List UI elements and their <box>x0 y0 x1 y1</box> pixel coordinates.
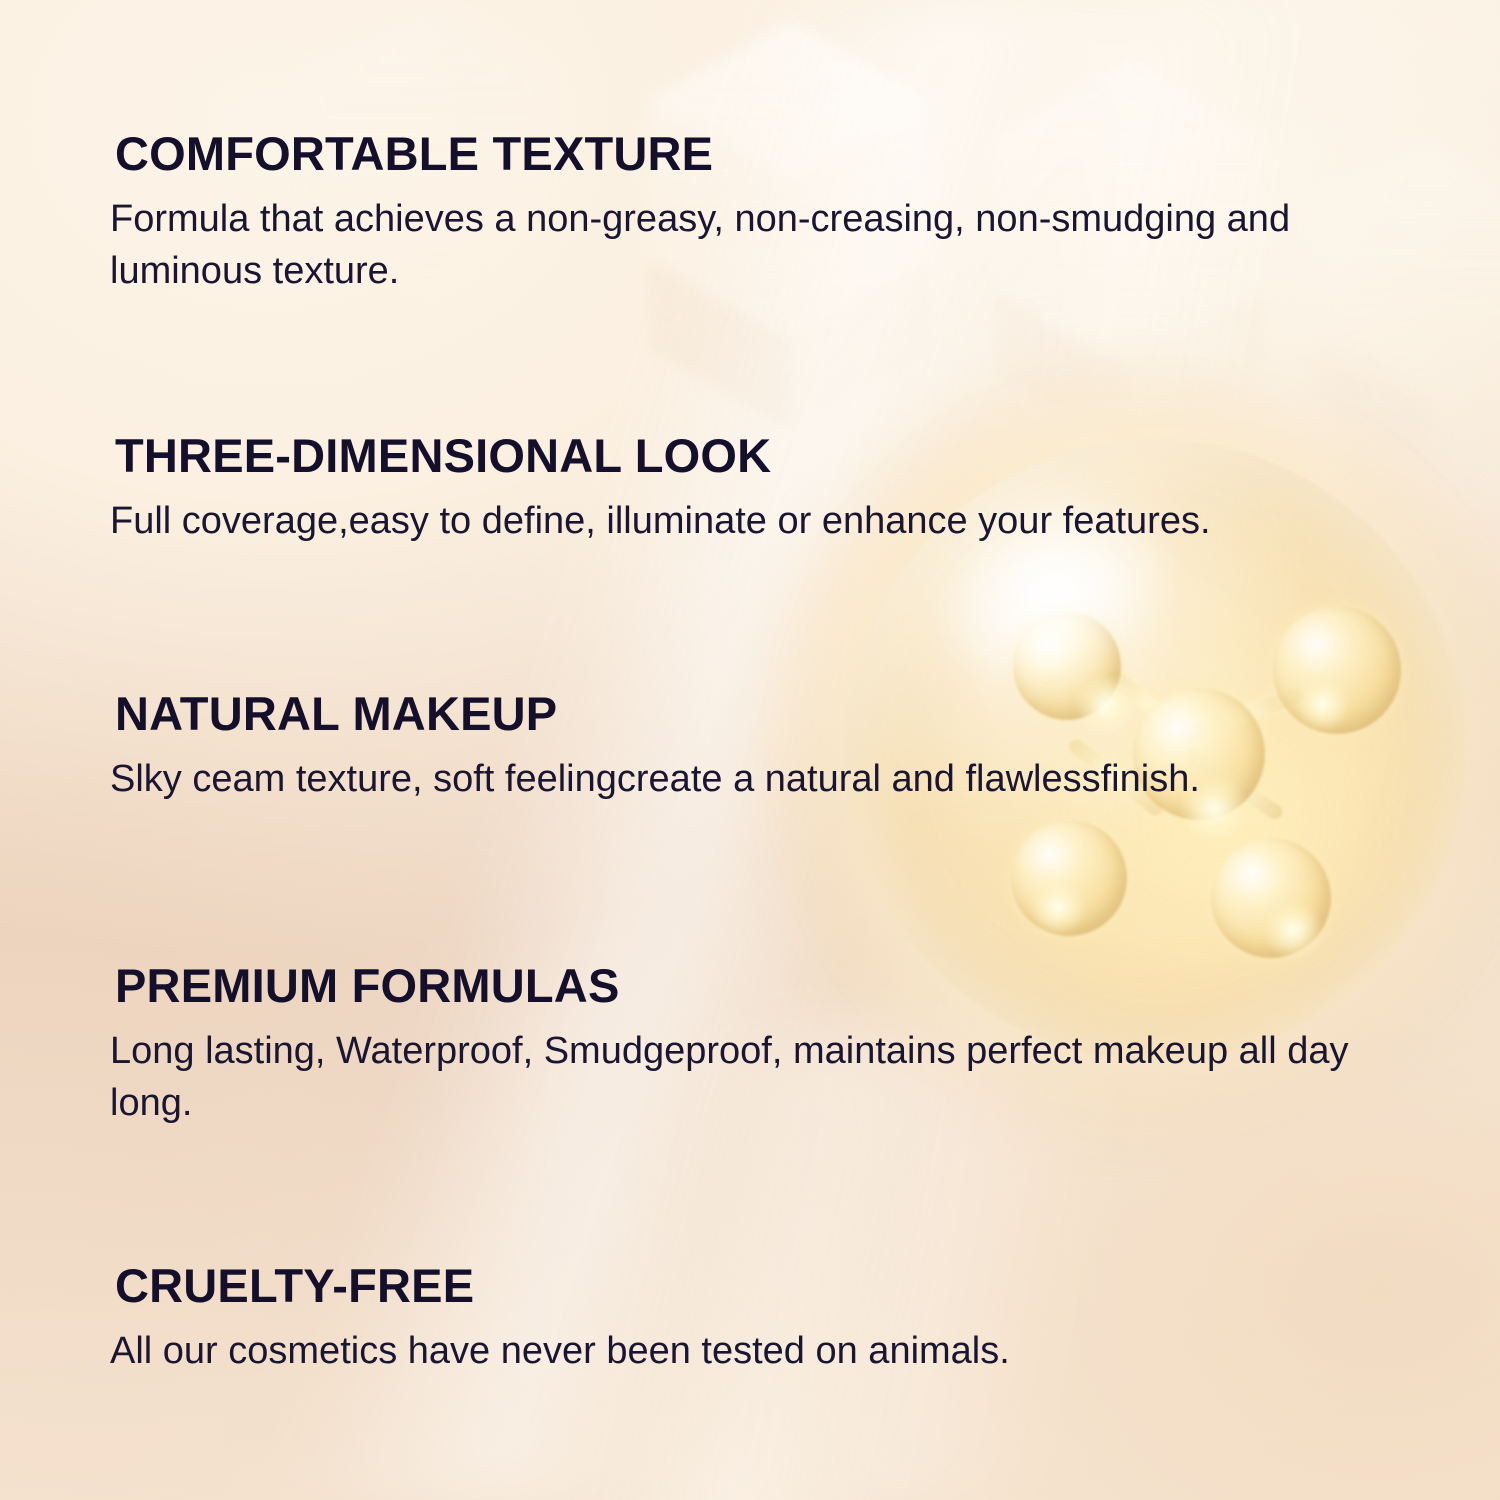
feature-title: THREE-DIMENSIONAL LOOK <box>115 432 1430 481</box>
feature-body: Full coverage,easy to define, illuminate… <box>110 495 1430 547</box>
feature-title: COMFORTABLE TEXTURE <box>115 130 1430 179</box>
feature-body: Slky ceam texture, soft feelingcreate a … <box>110 753 1430 805</box>
feature-cruelty-free: CRUELTY-FREE All our cosmetics have neve… <box>110 1262 1430 1377</box>
feature-title: PREMIUM FORMULAS <box>115 962 1430 1011</box>
product-feature-poster: COMFORTABLE TEXTURE Formula that achieve… <box>0 0 1500 1500</box>
feature-premium-formulas: PREMIUM FORMULAS Long lasting, Waterproo… <box>110 962 1430 1130</box>
feature-comfortable-texture: COMFORTABLE TEXTURE Formula that achieve… <box>110 130 1430 298</box>
feature-body: Long lasting, Waterproof, Smudgeproof, m… <box>110 1025 1430 1130</box>
feature-title: CRUELTY-FREE <box>115 1262 1430 1311</box>
feature-three-dimensional-look: THREE-DIMENSIONAL LOOK Full coverage,eas… <box>110 432 1430 547</box>
feature-body: Formula that achieves a non-greasy, non-… <box>110 193 1430 298</box>
feature-natural-makeup: NATURAL MAKEUP Slky ceam texture, soft f… <box>110 690 1430 805</box>
feature-title: NATURAL MAKEUP <box>115 690 1430 739</box>
feature-body: All our cosmetics have never been tested… <box>110 1325 1430 1377</box>
feature-list: COMFORTABLE TEXTURE Formula that achieve… <box>0 0 1500 1500</box>
